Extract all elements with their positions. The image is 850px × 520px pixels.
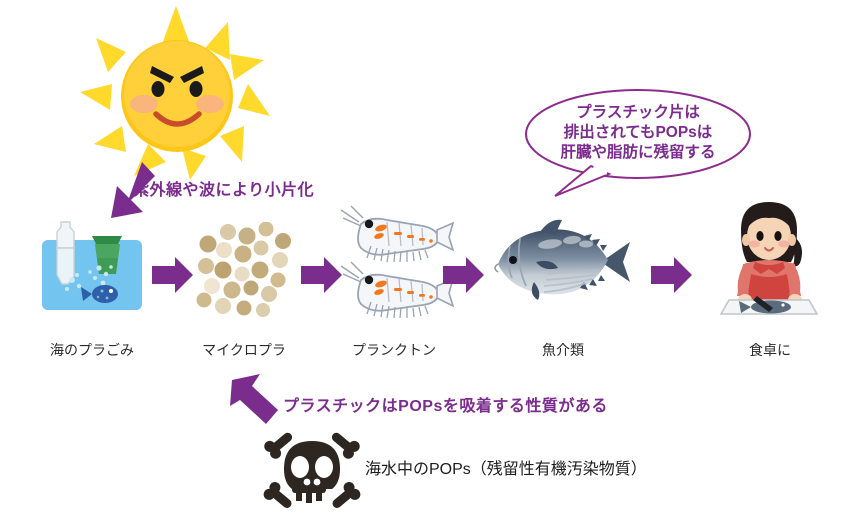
pops-source-label: 海水中のPOPs（残留性有機汚染物質） xyxy=(365,455,647,479)
angry-sun-icon xyxy=(78,4,274,184)
stage-label-microplastics: マイクロプラ xyxy=(174,340,314,360)
stage-label-dining-table: 食卓に xyxy=(700,340,840,360)
stage-label-seafood: 魚介類 xyxy=(493,340,633,360)
stage-label-plankton: プランクトン xyxy=(324,340,464,360)
up-left-arrow-icon xyxy=(226,372,286,430)
right-arrow-icon xyxy=(443,255,485,295)
stage-label-ocean-plastic-waste: 海のプラごみ xyxy=(22,340,162,360)
uv-fragmentation-annotation: 紫外線や波により小片化 xyxy=(133,176,314,200)
speech-bubble-line-3: 肝臓や脂肪に残留する xyxy=(523,143,753,163)
microplastic-pellets-icon xyxy=(190,222,298,322)
krill-plankton-icon xyxy=(333,202,455,318)
right-arrow-icon xyxy=(152,255,194,295)
speech-bubble-line-2: 排出されてもPOPsは xyxy=(523,123,753,143)
diagram-canvas: 紫外線や波により小片化 xyxy=(0,0,850,520)
speech-bubble-text: プラスチック片は 排出されてもPOPsは 肝臓や脂肪に残留する xyxy=(523,103,753,162)
pops-adsorption-annotation: プラスチックはPOPsを吸着する性質がある xyxy=(283,392,608,416)
tuna-fish-icon xyxy=(488,212,638,317)
right-arrow-icon xyxy=(651,255,693,295)
ocean-plastic-waste-icon xyxy=(37,212,147,317)
woman-cooking-fish-icon xyxy=(713,196,825,324)
speech-bubble-line-1: プラスチック片は xyxy=(523,103,753,123)
skull-and-crossbones-icon xyxy=(262,427,362,517)
